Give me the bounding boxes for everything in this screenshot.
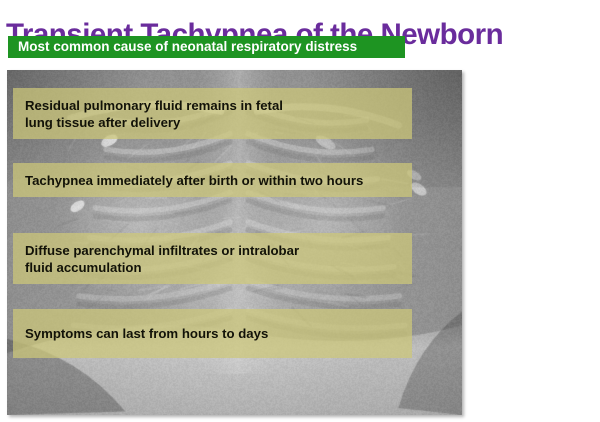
caption-bar: Tachypnea immediately after birth or wit… — [13, 163, 412, 197]
caption-bar: Symptoms can last from hours to days — [13, 309, 412, 358]
caption-line: Diffuse parenchymal infiltrates or intra… — [25, 242, 412, 259]
caption-line: lung tissue after delivery — [25, 114, 412, 131]
slide-root: Transient Tachypnea of the Newborn Most … — [0, 0, 600, 422]
caption-line: Residual pulmonary fluid remains in feta… — [25, 97, 412, 114]
caption-line: Symptoms can last from hours to days — [25, 325, 412, 342]
caption-line: Tachypnea immediately after birth or wit… — [25, 172, 412, 189]
caption-bar: Diffuse parenchymal infiltrates or intra… — [13, 233, 412, 284]
subtitle-banner-label: Most common cause of neonatal respirator… — [18, 36, 401, 58]
caption-bar: Residual pulmonary fluid remains in feta… — [13, 88, 412, 139]
subtitle-banner: Most common cause of neonatal respirator… — [8, 36, 405, 58]
caption-line: fluid accumulation — [25, 259, 412, 276]
